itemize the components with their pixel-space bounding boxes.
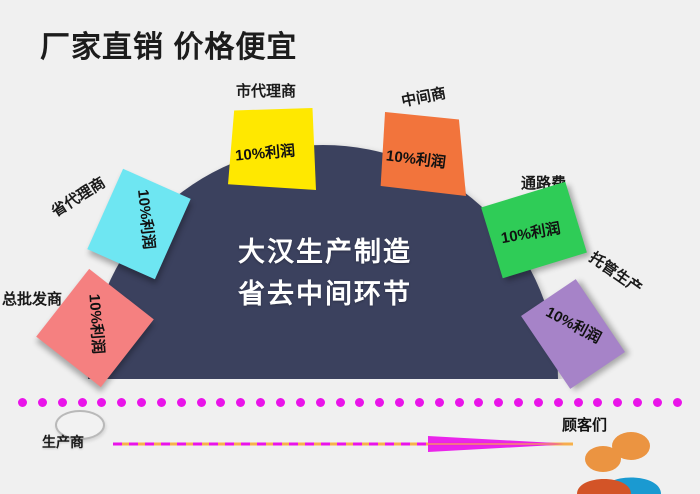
separator-dot bbox=[97, 398, 106, 407]
separator-dot bbox=[296, 398, 305, 407]
separator-dot bbox=[455, 398, 464, 407]
profit-text-general-wholesaler: 10%利润 bbox=[84, 293, 109, 354]
profit-text-middleman: 10%利润 bbox=[385, 144, 447, 172]
infographic-canvas: 厂家直销 价格便宜 大汉生产制造 省去中间环节 省代理商 10%利润 市代理商 … bbox=[0, 0, 700, 494]
separator-dot bbox=[534, 398, 543, 407]
profit-text-channel-fee: 10%利润 bbox=[499, 217, 562, 248]
separator-dot bbox=[375, 398, 384, 407]
separator-dot bbox=[355, 398, 364, 407]
separator-dot bbox=[117, 398, 126, 407]
separator-dot bbox=[673, 398, 682, 407]
separator-dot bbox=[593, 398, 602, 407]
center-headline-line-2: 省去中间环节 bbox=[150, 274, 500, 316]
customers-group-icon bbox=[575, 432, 685, 494]
separator-dot bbox=[336, 398, 345, 407]
separator-dot bbox=[633, 398, 642, 407]
profit-text-city-agent: 10%利润 bbox=[234, 139, 296, 165]
magenta-dot-separator bbox=[18, 396, 682, 408]
separator-dot bbox=[435, 398, 444, 407]
separator-dot bbox=[197, 398, 206, 407]
separator-dot bbox=[157, 398, 166, 407]
center-headline: 大汉生产制造 省去中间环节 bbox=[150, 232, 500, 316]
profit-text-provincial-agent: 10%利润 bbox=[133, 188, 160, 250]
separator-dot bbox=[18, 398, 27, 407]
card-city-agent[interactable]: 10%利润 bbox=[228, 108, 316, 190]
separator-dot bbox=[58, 398, 67, 407]
label-general-wholesaler: 总批发商 bbox=[2, 288, 62, 309]
center-headline-line-1: 大汉生产制造 bbox=[150, 232, 500, 274]
separator-dot bbox=[574, 398, 583, 407]
separator-dot bbox=[514, 398, 523, 407]
separator-dot bbox=[316, 398, 325, 407]
separator-dot bbox=[78, 398, 87, 407]
separator-dot bbox=[177, 398, 186, 407]
separator-dot bbox=[494, 398, 503, 407]
separator-dot bbox=[38, 398, 47, 407]
separator-dot bbox=[216, 398, 225, 407]
label-city-agent: 市代理商 bbox=[236, 80, 296, 101]
separator-dot bbox=[395, 398, 404, 407]
card-middleman[interactable]: 10%利润 bbox=[378, 112, 466, 196]
separator-dot bbox=[236, 398, 245, 407]
separator-dot bbox=[474, 398, 483, 407]
label-producer: 生产商 bbox=[42, 432, 84, 452]
separator-dot bbox=[276, 398, 285, 407]
profit-text-outsourced-production: 10%利润 bbox=[542, 301, 605, 348]
separator-dot bbox=[415, 398, 424, 407]
separator-dot bbox=[653, 398, 662, 407]
separator-dot bbox=[554, 398, 563, 407]
separator-dot bbox=[256, 398, 265, 407]
separator-dot bbox=[137, 398, 146, 407]
flow-arrow-producer-to-customers bbox=[113, 433, 573, 455]
separator-dot bbox=[613, 398, 622, 407]
